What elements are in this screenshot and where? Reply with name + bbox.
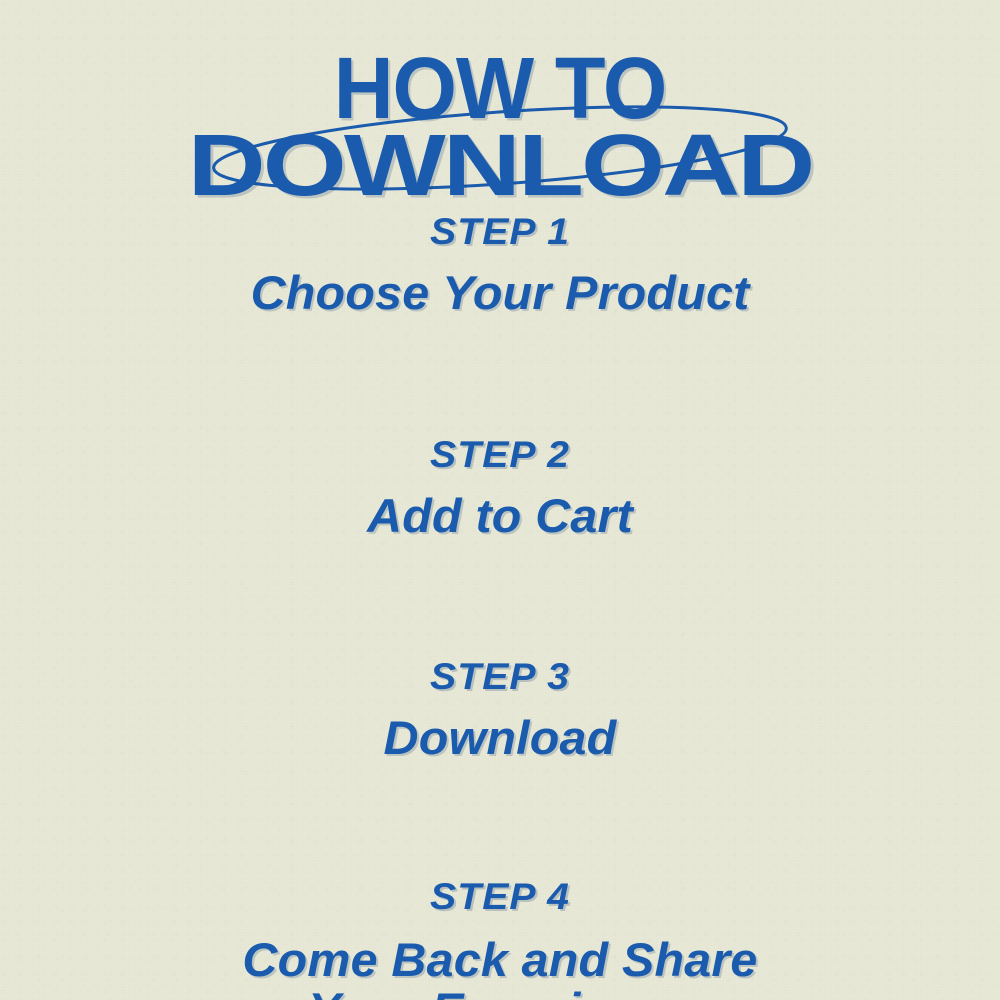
page-title-line-2: DOWNLOAD	[0, 122, 1000, 209]
step-1-description: Choose Your Product	[0, 268, 1000, 318]
step-item-3: STEP 3 Download	[0, 658, 1000, 763]
step-item-1: STEP 1 Choose Your Product	[0, 213, 1000, 318]
step-2-description: Add to Cart	[0, 491, 1000, 541]
how-to-download-poster: HOW TO DOWNLOAD STEP 1 Choose Your Produ…	[0, 0, 1000, 1000]
step-3-description: Download	[0, 713, 1000, 763]
step-item-2: STEP 2 Add to Cart	[0, 436, 1000, 541]
steps-list: STEP 1 Choose Your Product STEP 2 Add to…	[0, 205, 1000, 1000]
step-item-4: STEP 4 Come Back and Share Your Experien…	[0, 878, 1000, 1000]
step-3-label: STEP 3	[0, 658, 1000, 697]
step-4-label: STEP 4	[0, 878, 1000, 917]
step-4-description: Come Back and Share Your Experience	[0, 935, 1000, 1000]
step-2-label: STEP 2	[0, 436, 1000, 475]
step-1-label: STEP 1	[0, 213, 1000, 252]
poster-title-block: HOW TO DOWNLOAD	[0, 30, 1000, 190]
